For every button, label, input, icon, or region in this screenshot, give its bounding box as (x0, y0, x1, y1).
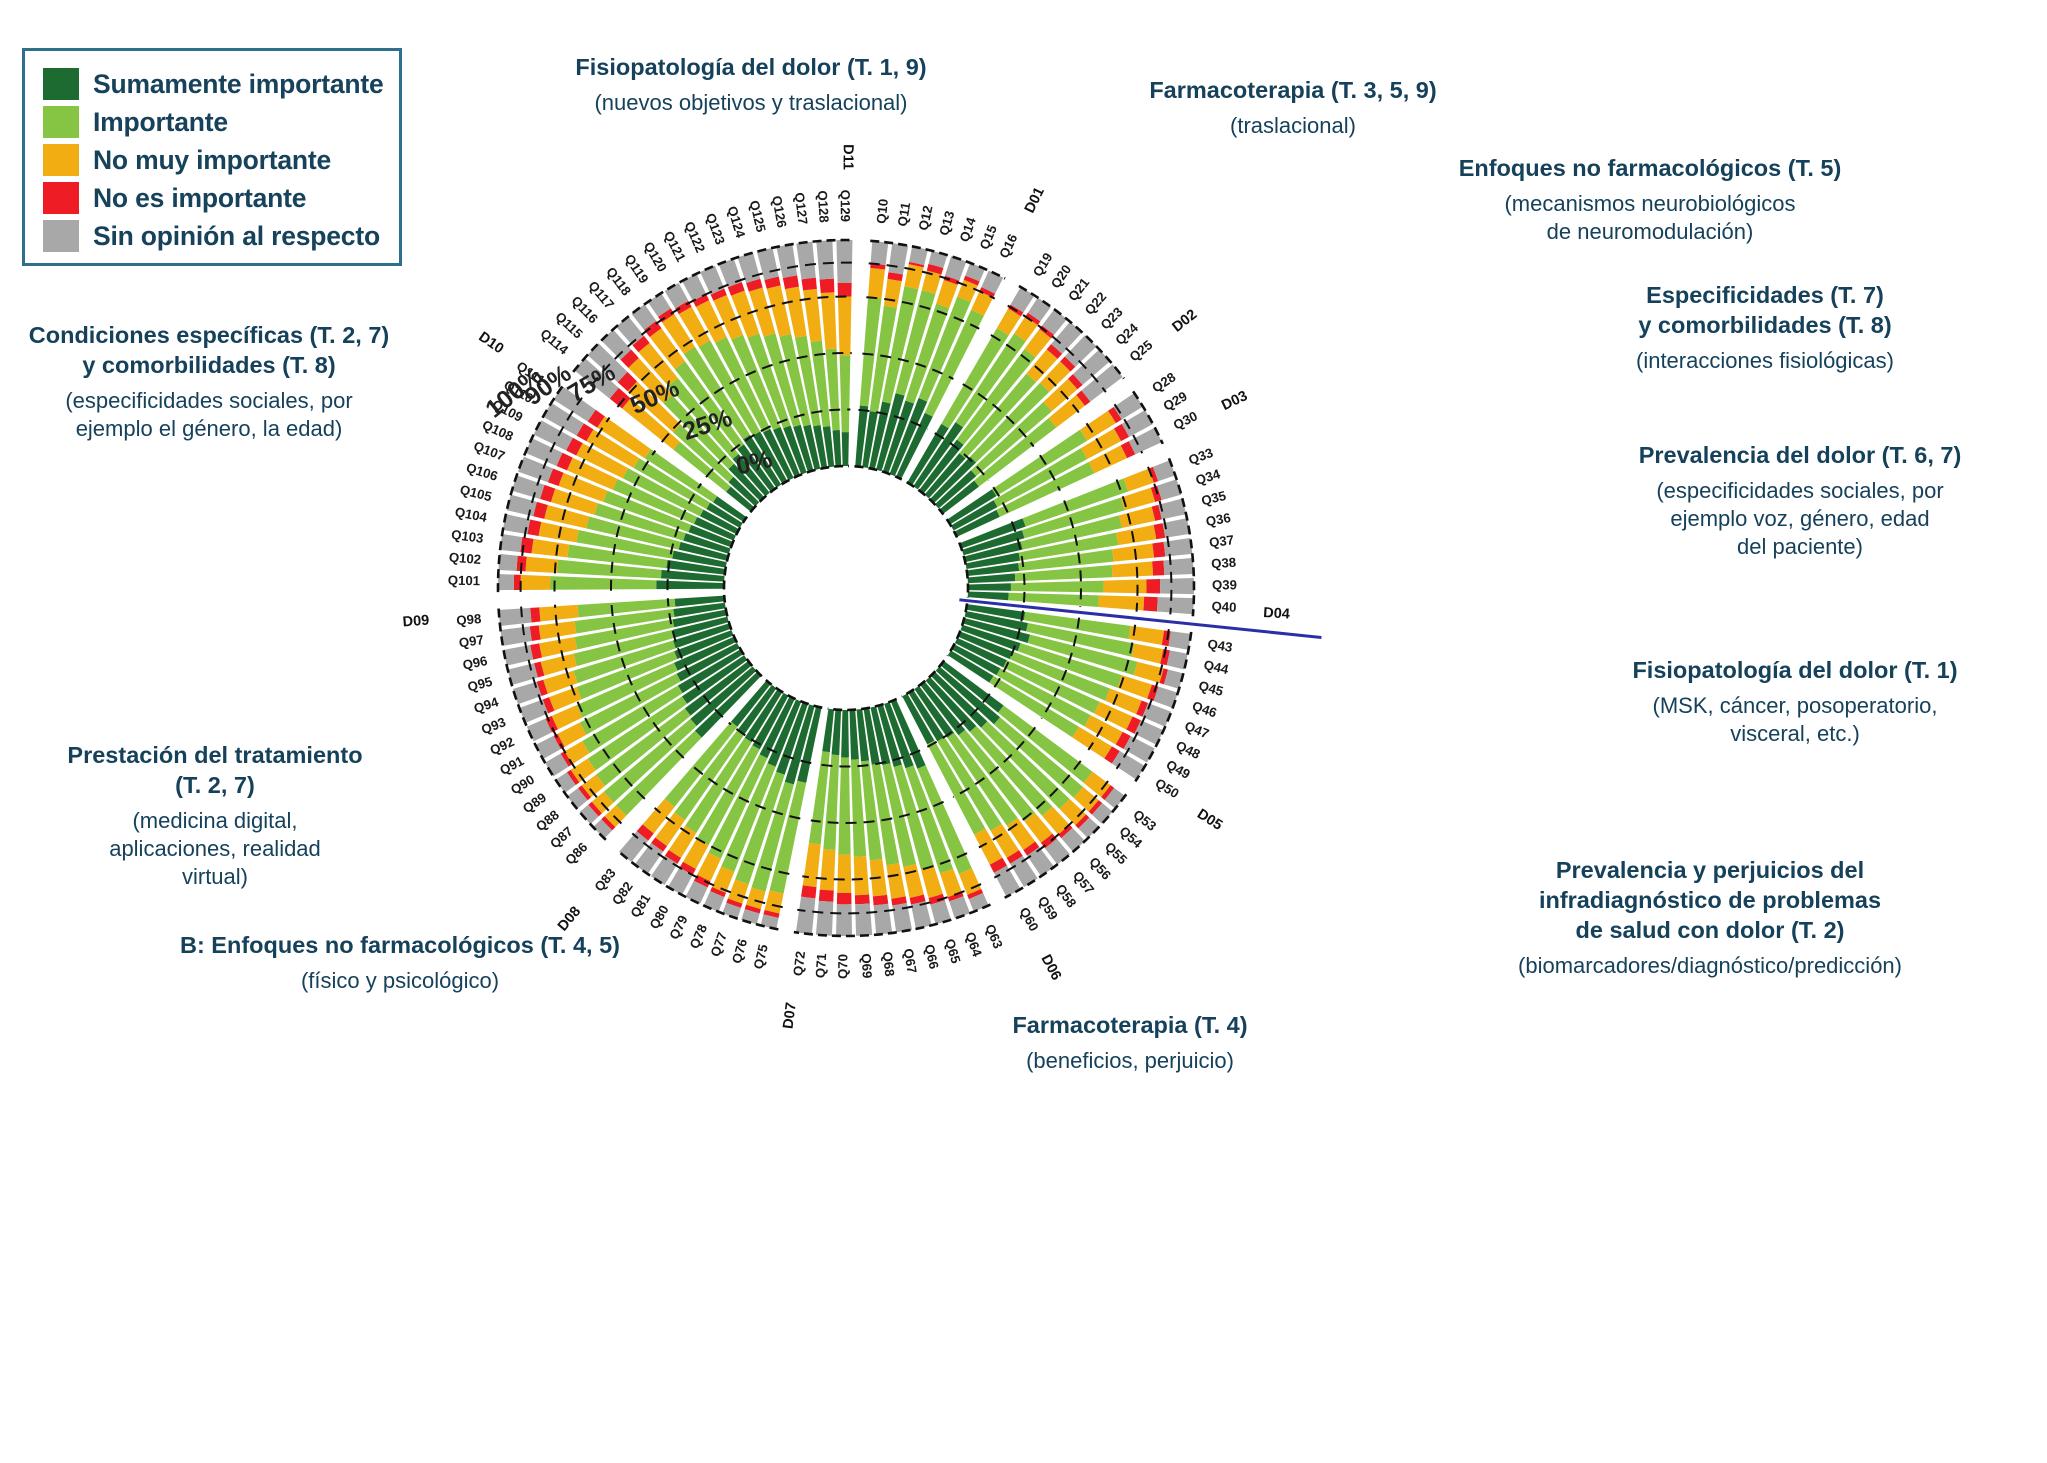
question-label-Q15: Q15 (977, 223, 1000, 252)
question-label-Q104: Q104 (454, 504, 489, 525)
bar-segment (837, 855, 851, 894)
question-label-Q107: Q107 (472, 438, 507, 464)
anno-d03: Enfoques no farmacológicos (T. 5)(mecani… (1400, 153, 1900, 246)
polar-stacked-bar-chart: Q10Q11Q12Q13Q14Q15Q16Q19Q20Q21Q22Q23Q24Q… (396, 138, 1296, 1038)
legend-item: No muy importante (43, 141, 383, 179)
bar-segment (968, 583, 1011, 591)
domain-label-D08: D08 (555, 904, 584, 935)
bar-segment (868, 268, 885, 299)
bar-segment (1103, 579, 1146, 593)
question-label-Q102: Q102 (448, 550, 481, 567)
bar-segment (796, 897, 816, 935)
question-label-Q71: Q71 (813, 953, 830, 979)
bar-segment (1146, 579, 1160, 594)
bar-segment (888, 243, 908, 274)
domain-label-D07: D07 (781, 1001, 800, 1029)
bar-segment (886, 863, 905, 899)
legend-label: Sin opinión al respecto (93, 221, 380, 252)
annotation-subtitle: (beneficios, perjuicio) (930, 1047, 1330, 1075)
bar-segment (530, 607, 540, 622)
legend-item: Sin opinión al respecto (43, 217, 383, 255)
annotation-title: Especificidades (T. 7)y comorbilidades (… (1545, 280, 1985, 340)
bar-segment (840, 355, 851, 432)
question-label-Q91: Q91 (497, 753, 526, 778)
domain-label-D11: D11 (840, 144, 856, 170)
bar-segment (903, 864, 924, 898)
question-label-Q37: Q37 (1208, 532, 1235, 550)
question-label-Q65: Q65 (942, 937, 963, 965)
annotation-subtitle: (medicina digital,aplicaciones, realidad… (40, 807, 390, 891)
annotation-title: Prevalencia del dolor (T. 6, 7) (1580, 440, 2020, 470)
question-label-Q44: Q44 (1202, 657, 1230, 677)
bar-segment (1152, 542, 1165, 558)
legend-label: No es importante (93, 183, 306, 214)
bar-segment (841, 710, 849, 758)
legend-label: No muy importante (93, 145, 331, 176)
bar-segment (838, 283, 852, 297)
question-label-Q126: Q126 (769, 195, 789, 229)
question-label-Q101: Q101 (448, 573, 481, 589)
annotation-subtitle: (biomarcadores/diagnóstico/predicción) (1400, 952, 2020, 980)
bar-segment (757, 248, 779, 280)
chart-svg: Q10Q11Q12Q13Q14Q15Q16Q19Q20Q21Q22Q23Q24Q… (396, 138, 1296, 1038)
bar-segment (498, 554, 517, 571)
question-label-Q67: Q67 (901, 947, 920, 974)
question-label-Q127: Q127 (792, 192, 811, 226)
question-label-Q78: Q78 (687, 922, 710, 951)
question-label-Q47: Q47 (1183, 718, 1212, 741)
question-label-Q94: Q94 (472, 694, 501, 716)
legend-box: Sumamente importante Importante No muy i… (22, 48, 402, 266)
domain-label-D02: D02 (1169, 307, 1200, 336)
anno-d04: Especificidades (T. 7)y comorbilidades (… (1545, 280, 1985, 375)
question-label-Q128: Q128 (815, 190, 832, 223)
bar-segment (1152, 560, 1164, 575)
bar-segment (884, 279, 902, 308)
question-label-Q11: Q11 (895, 201, 914, 227)
bar-segment (837, 893, 852, 904)
annotation-subtitle: (mecanismos neurobiológicosde neuromodul… (1400, 190, 1900, 246)
question-label-Q95: Q95 (466, 674, 494, 695)
bar-segment (855, 894, 870, 904)
question-label-Q16: Q16 (996, 232, 1020, 261)
bar-segment (838, 297, 851, 356)
question-label-Q70: Q70 (835, 954, 850, 979)
legend-swatch-sin-opinion (43, 220, 79, 252)
question-label-Q58: Q58 (1053, 881, 1080, 910)
question-label-Q38: Q38 (1211, 555, 1237, 572)
question-label-Q129: Q129 (838, 190, 853, 222)
bar-segment (832, 430, 841, 466)
bar-segment (854, 856, 869, 895)
anno-d10: Prestación del tratamiento(T. 2, 7)(medi… (40, 740, 390, 892)
bar-segment (816, 240, 834, 279)
bar-segment (550, 576, 656, 590)
question-label-Q92: Q92 (488, 734, 517, 758)
bar-segment (776, 244, 797, 278)
bar-segment (871, 241, 889, 265)
legend-swatch-importante (43, 106, 79, 138)
question-label-Q50: Q50 (1153, 775, 1182, 801)
annotation-title: Fisiopatología del dolor (T. 1, 9) (541, 52, 961, 82)
bar-segment (836, 904, 852, 936)
bar-segment (838, 757, 850, 854)
domain-label-D05: D05 (1194, 806, 1225, 834)
question-label-Q36: Q36 (1205, 510, 1232, 529)
bar-segment (499, 608, 532, 626)
question-label-Q97: Q97 (458, 632, 485, 650)
bar-segment (539, 605, 578, 622)
domain-label-D03: D03 (1219, 388, 1250, 414)
question-label-Q124: Q124 (725, 204, 749, 240)
question-label-Q14: Q14 (957, 215, 979, 244)
bar-segment (765, 890, 784, 913)
question-label-Q68: Q68 (880, 951, 898, 977)
bar-segment (656, 580, 724, 589)
bar-segment (498, 574, 514, 590)
annotation-title: Farmacoterapia (T. 3, 5, 9) (1113, 75, 1473, 105)
bar-segment (1143, 597, 1157, 612)
annotation-title: Fisiopatología del dolor (T. 1) (1570, 655, 2020, 685)
question-label-Q60: Q60 (1017, 905, 1042, 934)
annotation-title: Prevalencia y perjuicios delinfradiagnós… (1400, 855, 2020, 945)
question-label-Q48: Q48 (1174, 738, 1203, 762)
bar-segment (501, 626, 532, 645)
question-label-Q45: Q45 (1197, 678, 1225, 699)
question-label-Q35: Q35 (1200, 488, 1228, 508)
bar-segment (820, 279, 835, 293)
question-label-Q81: Q81 (627, 891, 653, 920)
bar-segment (1168, 631, 1191, 650)
question-label-Q72: Q72 (790, 950, 808, 977)
question-label-Q82: Q82 (609, 879, 636, 908)
bar-segment (801, 278, 816, 291)
bar-segment (532, 539, 570, 557)
question-label-Q80: Q80 (646, 903, 671, 932)
bar-segment (521, 575, 551, 590)
question-label-Q63: Q63 (982, 922, 1006, 951)
annotation-title: Condiciones específicas (T. 2, 7)y comor… (14, 320, 404, 380)
legend-label: Sumamente importante (93, 69, 384, 100)
annotation-subtitle: (especificidades sociales, porejemplo el… (14, 387, 404, 443)
legend-swatch-sumamente-importante (43, 68, 79, 100)
annotation-subtitle: (traslacional) (1113, 112, 1473, 140)
anno-d11: Condiciones específicas (T. 2, 7)y comor… (14, 320, 404, 443)
question-label-Q13: Q13 (936, 209, 957, 237)
bar-segment (1132, 644, 1164, 664)
legend-label: Importante (93, 107, 228, 138)
bar-segment (909, 246, 928, 265)
bar-segment (820, 849, 836, 890)
bar-segment (513, 682, 541, 705)
question-label-Q64: Q64 (962, 930, 985, 959)
question-label-Q28: Q28 (1149, 369, 1178, 395)
question-label-Q79: Q79 (666, 913, 690, 942)
bar-segment (1160, 578, 1194, 594)
bar-segment (821, 292, 837, 349)
bar-segment (1157, 479, 1181, 500)
question-label-Q40: Q40 (1211, 599, 1237, 615)
anno-d05: Prevalencia del dolor (T. 6, 7)(especifi… (1580, 440, 2020, 562)
bar-segment (842, 432, 849, 466)
bar-segment (1112, 543, 1154, 561)
question-label-Q98: Q98 (456, 611, 482, 628)
bar-segment (1134, 662, 1164, 683)
legend-swatch-no-muy-importante (43, 144, 79, 176)
question-label-Q25: Q25 (1126, 337, 1155, 364)
annotation-subtitle: (especificidades sociales, porejemplo vo… (1580, 477, 2020, 561)
bar-segment (874, 904, 893, 935)
annotation-subtitle: (nuevos objetivos y traslacional) (541, 89, 961, 117)
anno-d06: Fisiopatología del dolor (T. 1)(MSK, cán… (1570, 655, 2020, 748)
legend-swatch-no-es-importante (43, 182, 79, 214)
anno-d07: Prevalencia y perjuicios delinfradiagnós… (1400, 855, 2020, 980)
bar-segment (873, 895, 888, 906)
bar-segment (526, 557, 559, 573)
question-label-Q123: Q123 (703, 211, 728, 246)
question-label-Q43: Q43 (1207, 636, 1234, 655)
question-label-Q93: Q93 (479, 714, 508, 737)
bar-segment (796, 242, 815, 280)
question-label-Q39: Q39 (1212, 577, 1237, 592)
domain-label-D01: D01 (1022, 185, 1048, 216)
question-label-Q103: Q103 (450, 527, 484, 546)
question-label-Q106: Q106 (464, 460, 499, 484)
bar-segment (836, 240, 852, 283)
domain-label-D06: D06 (1037, 952, 1064, 983)
question-label-Q75: Q75 (751, 943, 771, 971)
legend-item: Importante (43, 103, 383, 141)
bar-segment (801, 885, 816, 898)
question-label-Q59: Q59 (1035, 894, 1061, 923)
bar-segment (819, 890, 834, 902)
question-label-Q125: Q125 (747, 199, 769, 234)
question-label-Q105: Q105 (458, 482, 493, 504)
legend-item: Sumamente importante (43, 65, 383, 103)
question-label-Q69: Q69 (859, 953, 875, 979)
question-label-Q46: Q46 (1190, 698, 1218, 720)
question-label-Q77: Q77 (707, 930, 729, 959)
annotation-subtitle: (interacciones fisiológicas) (1545, 347, 1985, 375)
annotation-title: Prestación del tratamiento(T. 2, 7) (40, 740, 390, 800)
question-label-Q19: Q19 (1030, 250, 1056, 279)
bar-segment (822, 709, 834, 752)
legend-item: No es importante (43, 179, 383, 217)
question-label-Q66: Q66 (922, 943, 942, 971)
domain-label-D04: D04 (1263, 605, 1291, 623)
chart-bars-group (498, 240, 1194, 936)
question-label-Q33: Q33 (1187, 445, 1216, 468)
question-label-Q90: Q90 (508, 772, 537, 798)
bar-segment (738, 253, 761, 283)
bar-segment (1157, 597, 1194, 614)
question-label-Q86: Q86 (562, 839, 590, 867)
question-label-Q29: Q29 (1161, 388, 1190, 413)
domain-label-D10: D10 (475, 329, 506, 357)
anno-d01: Fisiopatología del dolor (T. 1, 9)(nuevo… (541, 52, 961, 117)
question-label-Q12: Q12 (916, 204, 936, 232)
bar-segment (1112, 561, 1153, 577)
anno-d02: Farmacoterapia (T. 3, 5, 9)(traslacional… (1113, 75, 1473, 140)
annotation-title: Enfoques no farmacológicos (T. 5) (1400, 153, 1900, 183)
question-label-Q96: Q96 (461, 653, 488, 673)
question-label-Q76: Q76 (729, 937, 750, 965)
question-label-Q30: Q30 (1171, 408, 1200, 432)
bar-segment (803, 843, 821, 887)
bar-segment (500, 534, 522, 552)
bar-segment (968, 592, 1009, 601)
question-label-Q34: Q34 (1194, 466, 1223, 488)
bar-segment (816, 901, 833, 936)
domain-label-D09: D09 (402, 612, 430, 630)
bar-segment (855, 903, 872, 935)
question-label-Q10: Q10 (874, 198, 891, 224)
bar-segment (1163, 558, 1193, 575)
question-label-Q49: Q49 (1164, 757, 1193, 782)
annotation-subtitle: (MSK, cáncer, posoperatorio,visceral, et… (1570, 692, 2020, 748)
